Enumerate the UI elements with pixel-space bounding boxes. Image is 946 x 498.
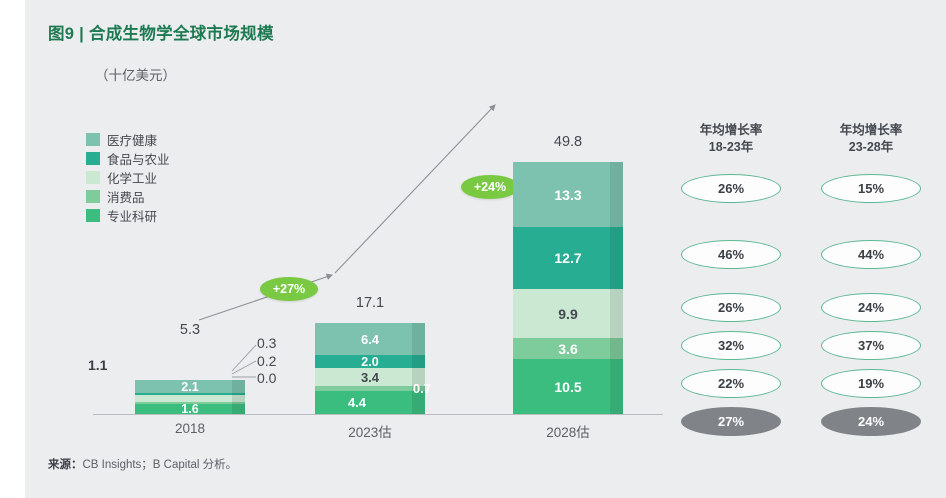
source-note: 来源：CB Insights；B Capital 分析。 [48, 456, 237, 472]
cagr-18-23-total: 27% [681, 407, 781, 436]
page-title: 图9 | 合成生物学全球市场规模 [48, 20, 274, 44]
cagr-heading-line1: 年均增长率 [815, 122, 927, 139]
cagr-23-28-chemical: 24% [821, 293, 921, 322]
segment-2028-research[interactable]: 10.5 [513, 359, 623, 414]
segment-value-2023-research: 4.4 [348, 395, 366, 410]
segment-2018-healthcare[interactable]: 2.1 [135, 380, 245, 393]
segment-value-2028-research: 10.5 [554, 379, 581, 395]
segment-value-2018-healthcare: 2.1 [181, 380, 198, 394]
segment-2028-healthcare[interactable]: 13.3 [513, 162, 623, 227]
segment-2018-research[interactable]: 1.6 [135, 404, 245, 414]
source-label: 来源： [48, 459, 83, 471]
segment-value-2023-food-agriculture: 2.0 [361, 355, 378, 369]
segment-2018-chemical[interactable] [135, 395, 245, 402]
segment-2023-research[interactable]: 4.4 [315, 391, 425, 414]
bar-shadow-edge [610, 227, 623, 289]
bar-shadow-edge [610, 359, 623, 414]
source-text: CB Insights；B Capital 分析。 [83, 459, 238, 471]
cagr-23-28-research: 19% [821, 369, 921, 398]
x-axis-label-2018: 2018 [135, 421, 245, 436]
x-axis-label-2023: 2023估 [315, 421, 425, 441]
segment-callout-2018-consumer: 0.2 [257, 353, 276, 369]
bar-group-2018[interactable]: 5.3 2.1 1.6 [135, 380, 245, 414]
cagr-heading-line1: 年均增长率 [675, 122, 787, 139]
bar-shadow-edge [412, 323, 425, 355]
segment-2028-consumer[interactable]: 3.6 [513, 338, 623, 359]
cagr-23-28-consumer: 37% [821, 331, 921, 360]
segment-value-2028-chemical: 9.9 [558, 306, 577, 322]
segment-value-2028-food-agriculture: 12.7 [554, 250, 581, 266]
cagr-column-18-23: 年均增长率 18-23年 26% 46% 26% 32% 22% 27% [675, 122, 787, 156]
cagr-18-23-chemical: 26% [681, 293, 781, 322]
bar-shadow-edge [412, 355, 425, 368]
bar-2018[interactable]: 2.1 1.6 [135, 380, 245, 414]
segment-callout-2018-other: 0.0 [257, 370, 276, 386]
segment-value-2023-consumer: 0.7 [413, 381, 431, 396]
segment-value-2023-healthcare: 6.4 [361, 332, 379, 347]
segment-2028-chemical[interactable]: 9.9 [513, 289, 623, 338]
segment-value-2028-consumer: 3.6 [558, 341, 577, 357]
chart-card: 图9 | 合成生物学全球市场规模 （十亿美元） 医疗健康 食品与农业 化学工业 … [25, 0, 946, 498]
segment-value-2023-chemical: 3.4 [361, 370, 379, 385]
plot-area: +27% +24% 5.3 2.1 [85, 95, 665, 415]
segment-value-2018-research: 1.6 [181, 402, 198, 416]
cagr-23-28-food-agriculture: 44% [821, 240, 921, 269]
growth-badge-2018-2023: +27% [260, 277, 318, 301]
bar-2023[interactable]: 6.4 2.0 3.4 0.7 4.4 [315, 323, 425, 414]
bar-shadow-edge [610, 289, 623, 338]
bar-group-2023[interactable]: 17.1 6.4 2.0 3.4 0.7 [315, 323, 425, 414]
cagr-column-23-28-heading: 年均增长率 23-28年 [815, 122, 927, 156]
cagr-23-28-healthcare: 15% [821, 174, 921, 203]
segment-2023-chemical[interactable]: 3.4 [315, 368, 425, 386]
cagr-column-23-28: 年均增长率 23-28年 15% 44% 24% 37% 19% 24% [815, 122, 927, 156]
cagr-heading-line2: 18-23年 [675, 139, 787, 156]
segment-callout-2018-food-agriculture: 0.3 [257, 335, 276, 351]
segment-2023-food-agriculture[interactable]: 2.0 [315, 355, 425, 368]
bar-2028[interactable]: 13.3 12.7 9.9 3.6 10.5 [513, 162, 623, 414]
cagr-23-28-total: 24% [821, 407, 921, 436]
segment-value-2028-healthcare: 13.3 [554, 187, 581, 203]
cagr-18-23-food-agriculture: 46% [681, 240, 781, 269]
cagr-18-23-research: 22% [681, 369, 781, 398]
cagr-18-23-healthcare: 26% [681, 174, 781, 203]
cagr-column-18-23-heading: 年均增长率 18-23年 [675, 122, 787, 156]
cagr-18-23-consumer: 32% [681, 331, 781, 360]
segment-2023-healthcare[interactable]: 6.4 [315, 323, 425, 355]
segment-2028-food-agriculture[interactable]: 12.7 [513, 227, 623, 289]
bar-total-2018: 5.3 [135, 322, 245, 338]
x-axis-label-2028: 2028估 [513, 421, 623, 441]
chart-unit-subtitle: （十亿美元） [95, 64, 176, 84]
bar-shadow-edge [610, 338, 623, 359]
x-axis-line [93, 414, 663, 415]
segment-value-2018-chemical: 1.1 [88, 357, 107, 373]
bar-total-2023: 17.1 [315, 295, 425, 311]
bar-group-2028[interactable]: 49.8 13.3 12.7 9.9 3.6 [513, 162, 623, 414]
bar-shadow-edge [610, 162, 623, 227]
cagr-heading-line2: 23-28年 [815, 139, 927, 156]
growth-badge-2023-2028: +24% [461, 175, 519, 199]
bar-total-2028: 49.8 [513, 134, 623, 150]
